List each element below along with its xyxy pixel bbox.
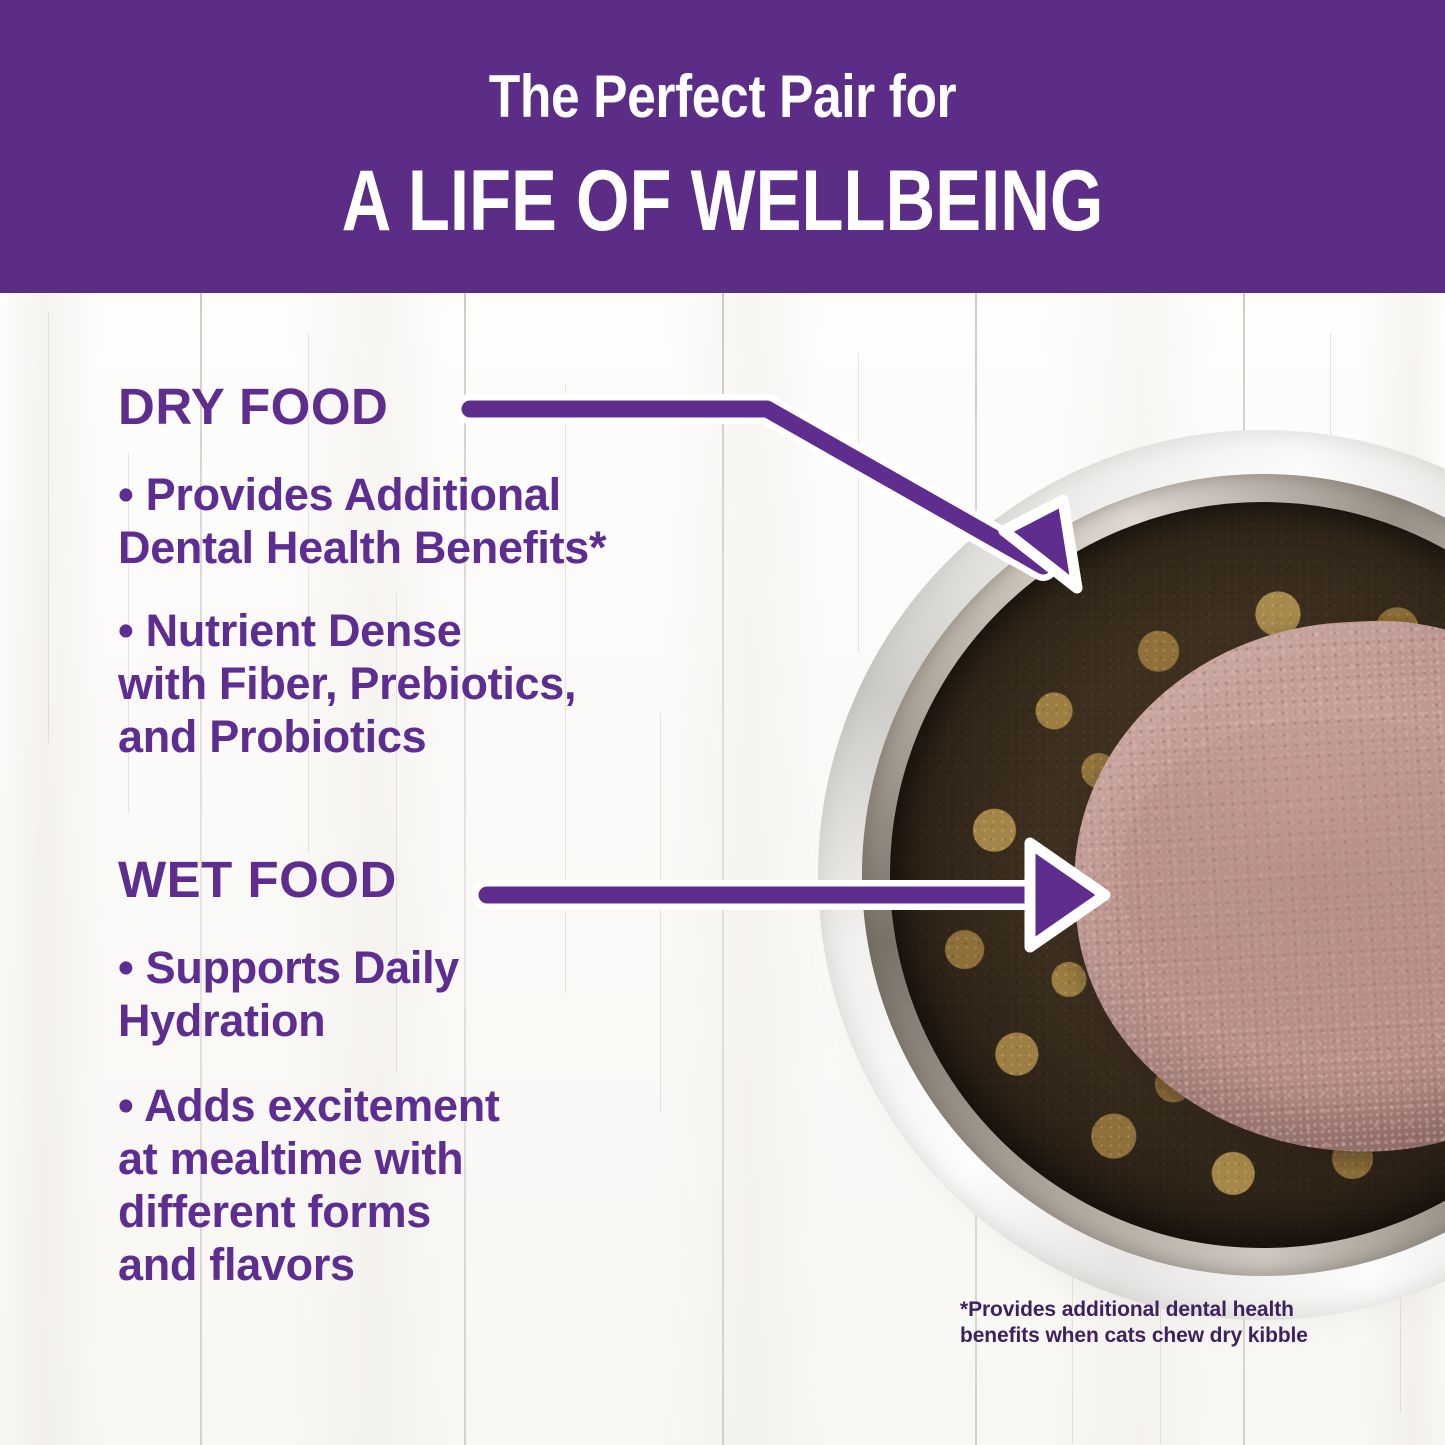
section-heading-dry-food: DRY FOOD — [118, 380, 798, 434]
food-bowl-photo — [818, 430, 1445, 1335]
bullet-dry-2-line-2: with Fiber, Prebiotics, — [118, 657, 798, 710]
bullet-dry-1-line-1: • Provides Additional — [118, 468, 798, 521]
bullet-wet-2: • Adds excitement at mealtime with diffe… — [118, 1079, 798, 1291]
benefits-copy-column: DRY FOOD • Provides Additional Dental He… — [118, 380, 798, 1291]
header-subtitle: The Perfect Pair for — [101, 63, 1344, 131]
bullet-wet-2-line-3: different forms — [118, 1185, 798, 1238]
bullet-dry-2-line-1: • Nutrient Dense — [118, 604, 798, 657]
bullet-wet-1-line-2: Hydration — [118, 994, 798, 1047]
bullet-dry-2-line-3: and Probiotics — [118, 710, 798, 763]
product-benefits-graphic: The Perfect Pair for A LIFE OF WELLBEING — [0, 0, 1445, 1445]
footnote: *Provides additional dental health benef… — [960, 1297, 1390, 1349]
header-banner: The Perfect Pair for A LIFE OF WELLBEING — [0, 0, 1445, 293]
bullet-wet-1: • Supports Daily Hydration — [118, 941, 798, 1047]
bullet-wet-2-line-2: at mealtime with — [118, 1132, 798, 1185]
bullet-dry-1: • Provides Additional Dental Health Bene… — [118, 468, 798, 574]
header-title: A LIFE OF WELLBEING — [145, 155, 1301, 247]
footnote-line-2: benefits when cats chew dry kibble — [960, 1323, 1390, 1349]
footnote-line-1: *Provides additional dental health — [960, 1297, 1390, 1323]
bullet-dry-2: • Nutrient Dense with Fiber, Prebiotics,… — [118, 604, 798, 763]
bullet-dry-1-line-2: Dental Health Benefits* — [118, 521, 798, 574]
section-heading-wet-food: WET FOOD — [118, 853, 798, 907]
bullet-wet-1-line-1: • Supports Daily — [118, 941, 798, 994]
section-spacer — [118, 763, 798, 853]
bullet-wet-2-line-4: and flavors — [118, 1238, 798, 1291]
bowl-interior — [890, 502, 1445, 1248]
bullet-wet-2-line-1: • Adds excitement — [118, 1079, 798, 1132]
